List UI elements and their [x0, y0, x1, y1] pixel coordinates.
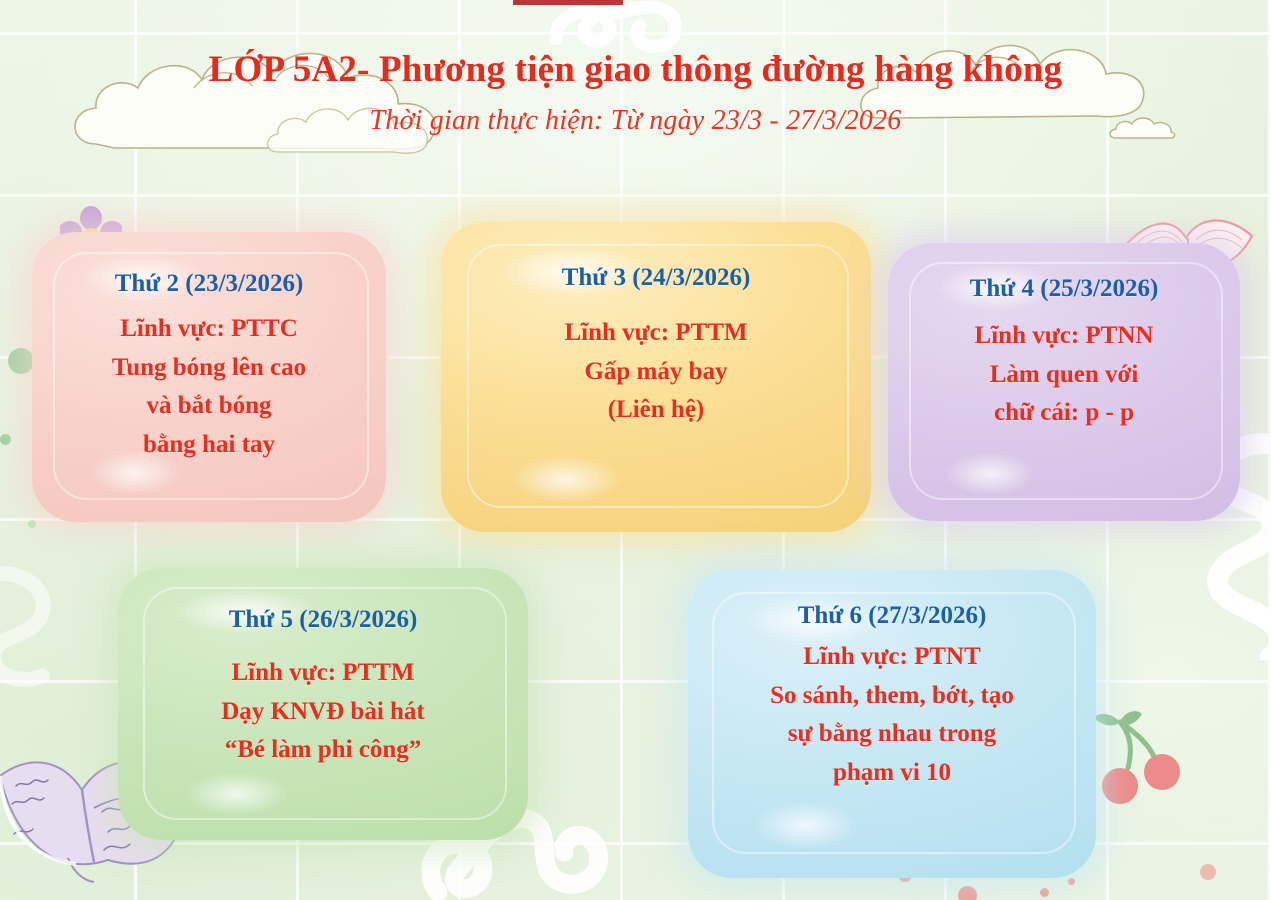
card-activity-line: Dạy KNVĐ bài hát — [221, 695, 425, 730]
decor-dot-pink — [1200, 864, 1216, 880]
card-field-line: Lĩnh vực: PTNN — [975, 319, 1154, 354]
poster-canvas: LỚP 5A2- Phương tiện giao thông đường hà… — [0, 0, 1271, 900]
poster-header: LỚP 5A2- Phương tiện giao thông đường hà… — [0, 48, 1271, 137]
card-field-line: Lĩnh vực: PTNT — [803, 640, 981, 675]
card-field-line: Lĩnh vực: PTTM — [231, 656, 414, 691]
decor-dot-pink — [958, 886, 977, 900]
decor-dot-green — [8, 348, 34, 374]
card-day-heading: Thứ 6 (27/3/2026) — [798, 602, 987, 630]
decor-dot-green — [0, 434, 11, 445]
card-day-heading: Thứ 5 (26/3/2026) — [229, 606, 418, 634]
card-activity-line: Gấp máy bay — [584, 355, 727, 390]
card-activity-line: Làm quen với — [990, 358, 1139, 393]
card-activity-line: phạm vi 10 — [833, 756, 951, 791]
squiggle-mid-left-icon — [0, 560, 104, 690]
card-field-line: Lĩnh vực: PTTC — [120, 312, 298, 347]
day-card-wednesday[interactable]: Thứ 4 (25/3/2026) Lĩnh vực: PTNN Làm que… — [888, 243, 1240, 521]
card-activity-line: sự bằng nhau trong — [788, 717, 996, 752]
decor-dot-pink — [1040, 888, 1049, 897]
card-activity-line: (Liên hệ) — [608, 393, 705, 428]
card-activity-line: “Bé làm phi công” — [225, 733, 422, 768]
card-day-heading: Thứ 4 (25/3/2026) — [970, 275, 1159, 303]
day-card-thursday[interactable]: Thứ 5 (26/3/2026) Lĩnh vực: PTTM Dạy KNV… — [118, 568, 528, 840]
card-activity-line: bằng hai tay — [143, 428, 275, 463]
decor-dot-green — [28, 520, 36, 528]
day-card-monday[interactable]: Thứ 2 (23/3/2026) Lĩnh vực: PTTC Tung bó… — [32, 232, 386, 522]
cherries-icon — [1090, 706, 1198, 816]
card-activity-line: và bắt bóng — [146, 389, 271, 424]
decor-dot-pink — [1068, 878, 1075, 885]
card-field-line: Lĩnh vực: PTTM — [564, 316, 747, 351]
card-day-heading: Thứ 3 (24/3/2026) — [562, 264, 751, 292]
card-activity-line: chữ cái: p - p — [994, 396, 1134, 431]
page-subtitle: Thời gian thực hiện: Từ ngày 23/3 - 27/3… — [0, 105, 1271, 137]
day-card-friday[interactable]: Thứ 6 (27/3/2026) Lĩnh vực: PTNT So sánh… — [688, 570, 1096, 878]
page-title: LỚP 5A2- Phương tiện giao thông đường hà… — [0, 48, 1271, 92]
card-activity-line: Tung bóng lên cao — [112, 351, 306, 386]
card-day-heading: Thứ 2 (23/3/2026) — [115, 270, 304, 298]
card-activity-line: So sánh, them, bớt, tạo — [770, 679, 1014, 714]
day-card-tuesday[interactable]: Thứ 3 (24/3/2026) Lĩnh vực: PTTM Gấp máy… — [441, 222, 871, 532]
